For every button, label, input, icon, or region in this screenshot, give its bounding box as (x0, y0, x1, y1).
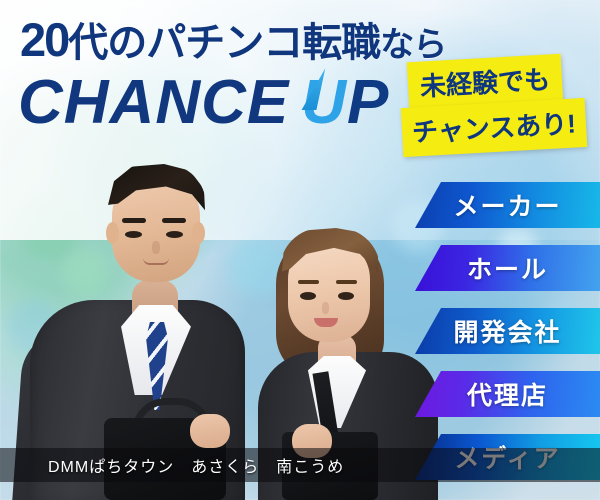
woman-eye-right (338, 292, 354, 300)
category-button-hall[interactable]: ホール (415, 245, 600, 291)
banner-advertisement[interactable]: 20代のパチンコ転職なら CHANCEUP 未経験でも チャンスあり! メーカー… (0, 0, 600, 500)
headline-number: 20 (20, 13, 68, 66)
headline-tail: なら (380, 26, 446, 64)
man-hand (190, 414, 230, 448)
woman-eye-left (300, 292, 316, 300)
logo-letter-p: P (347, 68, 389, 137)
man-ear-right (192, 222, 205, 244)
woman-brow-left (298, 280, 319, 284)
woman-brow-right (336, 280, 357, 284)
logo-word-chance: CHANCE (18, 68, 289, 137)
man-brow-right (162, 218, 186, 223)
category-button-maker[interactable]: メーカー (415, 182, 600, 228)
credit-bar: DMMぱちタウン あさくら 南こうめ (0, 448, 600, 482)
woman-nose (322, 302, 329, 314)
status-badge-chance: チャンスあり! (401, 98, 587, 157)
category-button-agency[interactable]: 代理店 (415, 371, 600, 417)
man-mouth (143, 258, 169, 265)
man-nose (152, 241, 160, 254)
chance-up-logo: CHANCEUP (18, 72, 389, 134)
category-button-developer[interactable]: 開発会社 (415, 308, 600, 354)
man-ear-left (106, 222, 119, 244)
credit-text: DMMぱちタウン あさくら 南こうめ (48, 453, 344, 477)
man-eye-right (166, 231, 183, 238)
headline-middle: 代のパチンコ転職 (68, 21, 380, 65)
man-eye-left (125, 231, 142, 238)
page-title: 20代のパチンコ転職なら (20, 16, 446, 63)
man-brow-left (122, 218, 146, 223)
